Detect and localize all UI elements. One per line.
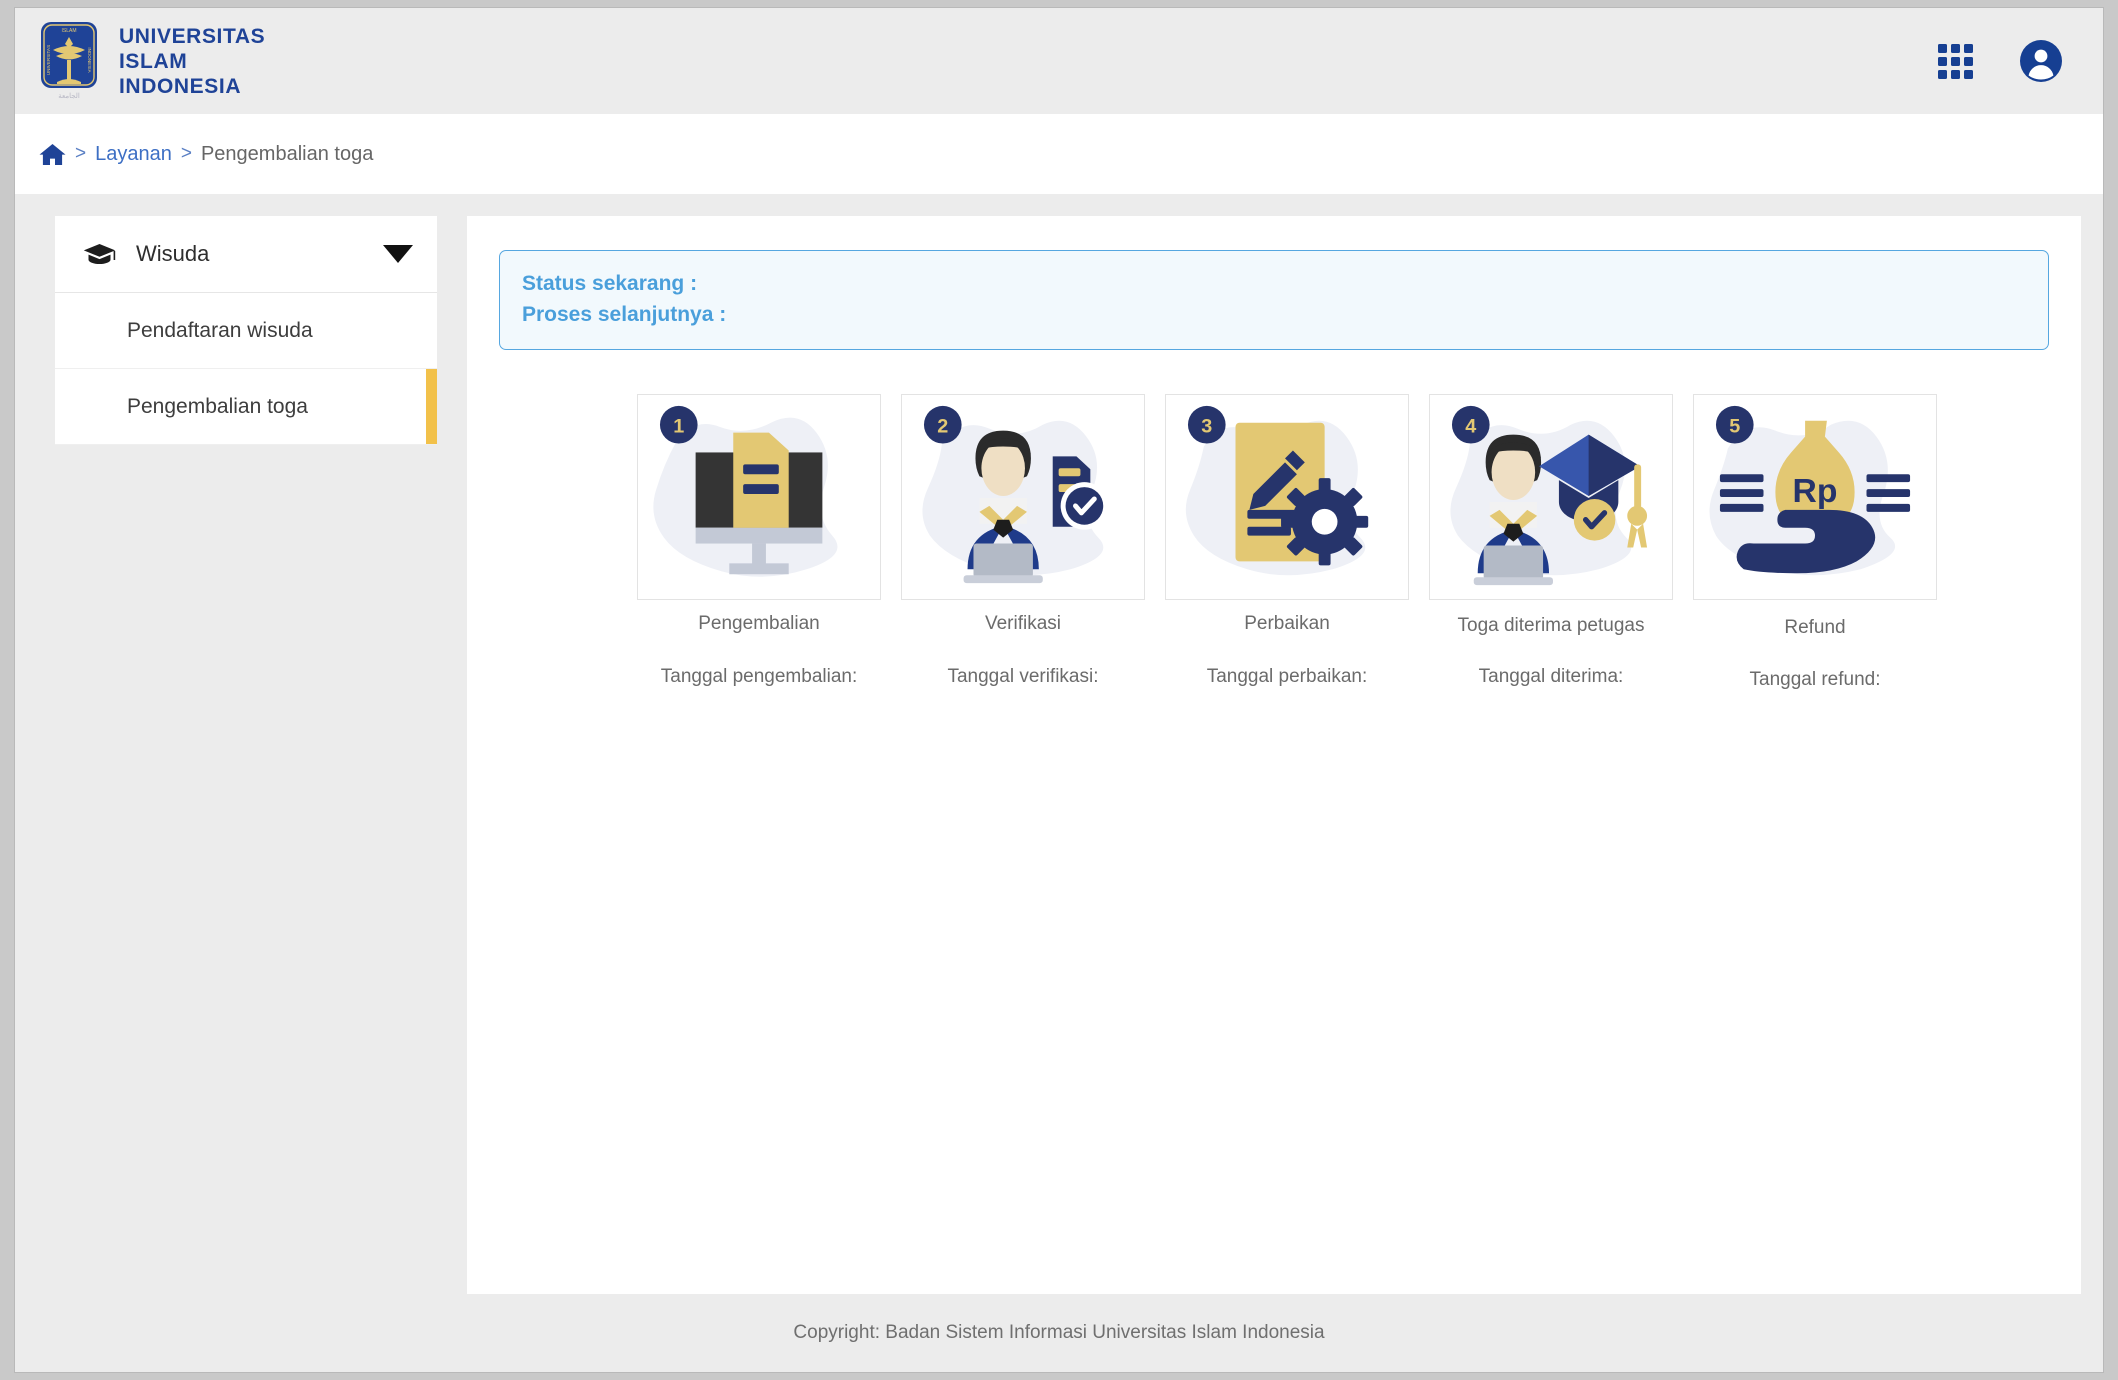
app-window: ISLAM UNIVERSITAS INDONESIA الجامعة UNIV… (14, 7, 2104, 1373)
step-label: Verifikasi (985, 613, 1061, 635)
grid-cell (1938, 44, 1947, 53)
breadcrumb: > Layanan > Pengembalian toga (39, 142, 373, 167)
step-number: 5 (1729, 416, 1740, 438)
step-date-label: Tanggal refund: (1750, 669, 1881, 691)
grid-cell (1938, 70, 1947, 79)
breadcrumb-link-layanan[interactable]: Layanan (95, 143, 172, 166)
progress-steps: 1 Pengembalian Tanggal pengembalian: (499, 394, 2049, 691)
main-content-panel: Status sekarang : Proses selanjutnya : (467, 216, 2081, 1294)
step-date-label: Tanggal pengembalian: (661, 666, 858, 688)
svg-text:INDONESIA: INDONESIA (87, 47, 92, 73)
home-icon[interactable] (39, 142, 66, 167)
brand-line-3: INDONESIA (119, 74, 265, 99)
svg-text:Rp: Rp (1793, 473, 1838, 510)
svg-text:UNIVERSITAS: UNIVERSITAS (46, 45, 51, 75)
step-card[interactable]: Rp 5 (1693, 394, 1937, 600)
grid-cell (1964, 57, 1973, 66)
step-number: 3 (1201, 416, 1212, 438)
breadcrumb-separator-1: > (75, 143, 86, 165)
breadcrumb-current: Pengembalian toga (201, 143, 373, 166)
grid-apps-icon[interactable] (1938, 44, 1973, 79)
grid-cell (1938, 57, 1947, 66)
step-card[interactable]: 1 (637, 394, 881, 600)
svg-text:الجامعة: الجامعة (58, 92, 80, 100)
step-toga-diterima-petugas: 4 Toga diterima petugas Tanggal diterima… (1419, 394, 1683, 688)
sidebar-item-pendaftaran-wisuda[interactable]: Pendaftaran wisuda (55, 293, 437, 369)
sidebar: Wisuda Pendaftaran wisuda Pengembalian t… (55, 216, 437, 1294)
chevron-down-icon[interactable] (383, 245, 413, 263)
step-date-label: Tanggal verifikasi: (947, 666, 1098, 688)
brand-block[interactable]: ISLAM UNIVERSITAS INDONESIA الجامعة UNIV… (37, 20, 265, 102)
step-number: 1 (673, 416, 684, 438)
step-refund: Rp 5 Refund Tanggal re (1683, 394, 1947, 691)
grid-cell (1951, 44, 1960, 53)
step-card[interactable]: 2 (901, 394, 1145, 600)
sidebar-item-label: Pendaftaran wisuda (127, 319, 313, 343)
step-perbaikan: 3 Perbaikan Tanggal perbaikan: (1155, 394, 1419, 688)
graduation-cap-icon (83, 243, 116, 265)
step-date-label: Tanggal perbaikan: (1207, 666, 1368, 688)
topbar-actions (1938, 39, 2063, 83)
grid-cell (1951, 57, 1960, 66)
step-date-label: Tanggal diterima: (1479, 666, 1624, 688)
status-box: Status sekarang : Proses selanjutnya : (499, 250, 2049, 350)
footer-bar: Copyright: Badan Sistem Informasi Univer… (15, 1294, 2103, 1372)
step-label: Refund (1784, 617, 1845, 639)
step-verifikasi: 2 Verifikasi Tanggal verifikasi: (891, 394, 1155, 688)
brand-line-2: ISLAM (119, 49, 265, 74)
step-card[interactable]: 3 (1165, 394, 1409, 600)
sidebar-item-pengembalian-toga[interactable]: Pengembalian toga (55, 369, 437, 445)
sidebar-group-label: Wisuda (136, 241, 383, 267)
page-body: Wisuda Pendaftaran wisuda Pengembalian t… (15, 194, 2103, 1294)
status-next-line: Proses selanjutnya : (522, 299, 2026, 330)
user-account-icon[interactable] (2019, 39, 2063, 83)
brand-wordmark: UNIVERSITAS ISLAM INDONESIA (119, 24, 265, 99)
grid-cell (1964, 70, 1973, 79)
svg-text:ISLAM: ISLAM (61, 28, 76, 34)
step-label: Perbaikan (1244, 613, 1330, 635)
step-number: 2 (937, 416, 948, 438)
top-header-bar: ISLAM UNIVERSITAS INDONESIA الجامعة UNIV… (15, 8, 2103, 114)
sidebar-group-wisuda[interactable]: Wisuda (55, 216, 437, 293)
step-card[interactable]: 4 (1429, 394, 1673, 600)
grid-cell (1951, 70, 1960, 79)
uii-shield-logo: ISLAM UNIVERSITAS INDONESIA الجامعة (37, 20, 101, 102)
step-label: Toga diterima petugas (1458, 615, 1645, 637)
step-label: Pengembalian (698, 613, 819, 635)
footer-copyright: Copyright: Badan Sistem Informasi Univer… (793, 1322, 1324, 1344)
breadcrumb-bar: > Layanan > Pengembalian toga (15, 114, 2103, 194)
breadcrumb-separator-2: > (181, 143, 192, 165)
grid-cell (1964, 44, 1973, 53)
brand-line-1: UNIVERSITAS (119, 24, 265, 49)
step-number: 4 (1465, 416, 1476, 438)
step-pengembalian: 1 Pengembalian Tanggal pengembalian: (627, 394, 891, 688)
sidebar-item-label: Pengembalian toga (127, 395, 308, 419)
status-current-line: Status sekarang : (522, 268, 2026, 299)
